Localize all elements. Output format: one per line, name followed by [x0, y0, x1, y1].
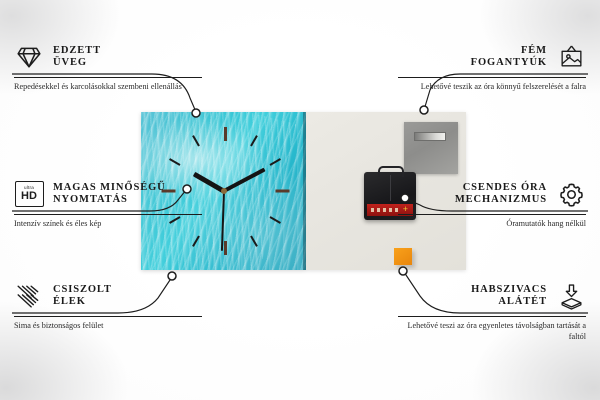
clock-minute-hand: [223, 168, 265, 193]
feature-description: Intenzív színek és éles kép: [14, 219, 202, 230]
feature-title-line2: ÉLEK: [53, 296, 86, 307]
diamond-icon: [14, 42, 44, 72]
feature-high-quality-print: ultra HD MAGAS MINŐSÉGŰNYOMTATÁS Intenzí…: [14, 177, 202, 230]
feature-divider: [14, 77, 202, 78]
feature-title-line1: CSISZOLT: [53, 284, 112, 295]
feature-tempered-glass: EDZETTÜVEG Repedésekkel és karcolásokkal…: [14, 40, 202, 93]
feature-silent-mechanism: CSENDES ÓRAMECHANIZMUS Óramutatók hang n…: [398, 177, 586, 230]
feature-description: Lehetővé teszi az óra egyenletes távolsá…: [398, 321, 586, 342]
feature-title: FÉMFOGANTYÚK: [471, 45, 547, 70]
clock-center-cap: [221, 188, 227, 194]
press-pad-icon: [556, 281, 586, 311]
polished-edges-icon: [14, 281, 44, 311]
feature-title-line2: MECHANIZMUS: [455, 194, 547, 205]
hanger-slot: [414, 132, 446, 141]
feature-title-line2: NYOMTATÁS: [53, 194, 128, 205]
feature-polished-edges: CSISZOLTÉLEK Sima és biztonságos felület: [14, 279, 202, 332]
gear-icon: [556, 179, 586, 209]
feature-description: Sima és biztonságos felület: [14, 321, 202, 332]
feature-divider: [398, 77, 586, 78]
feature-title: MAGAS MINŐSÉGŰNYOMTATÁS: [53, 182, 166, 207]
clock-tick-7: [192, 236, 200, 247]
clock-tick-12: [224, 127, 227, 141]
feature-title: CSENDES ÓRAMECHANIZMUS: [455, 182, 547, 207]
clock-tick-11: [192, 135, 200, 146]
feature-description: Repedésekkel és karcolásokkal szembeni e…: [14, 82, 202, 93]
clock-tick-4: [269, 216, 280, 224]
feature-description: Lehetővé teszik az óra könnyű felszerelé…: [398, 82, 586, 93]
clock-tick-5: [250, 236, 258, 247]
feature-divider: [14, 316, 202, 317]
clock-tick-3: [275, 190, 289, 193]
feature-title: HABSZIVACSALÁTÉT: [471, 284, 547, 309]
clock-tick-6: [224, 241, 227, 255]
feature-title-line1: CSENDES ÓRA: [463, 182, 547, 193]
feature-foam-spacer: HABSZIVACSALÁTÉT Lehetővé teszi az óra e…: [398, 279, 586, 342]
infographic-canvas: +: [0, 0, 600, 400]
feature-description: Óramutatók hang nélkül: [398, 219, 586, 230]
feature-title-line1: EDZETT: [53, 45, 101, 56]
clock-tick-10: [169, 158, 180, 166]
clock-tick-2: [269, 158, 280, 166]
feature-title-line1: FÉM: [521, 45, 547, 56]
feature-title-line1: HABSZIVACS: [471, 284, 547, 295]
mechanism-seam: [390, 175, 391, 201]
ultra-hd-badge-icon: ultra HD: [14, 179, 44, 209]
badge-hd-label: HD: [21, 191, 37, 202]
feature-title: CSISZOLTÉLEK: [53, 284, 112, 309]
feature-title-line2: ÜVEG: [53, 57, 87, 68]
clock-tick-1: [250, 135, 258, 146]
metal-hanger-plate: [404, 122, 458, 174]
feature-title: EDZETTÜVEG: [53, 45, 101, 70]
feature-title-line2: FOGANTYÚK: [471, 57, 547, 68]
battery-bars: [371, 208, 399, 212]
feature-divider: [14, 214, 202, 215]
feature-divider: [398, 316, 586, 317]
feature-divider: [398, 214, 586, 215]
feature-title-line1: MAGAS MINŐSÉGŰ: [53, 182, 166, 193]
foam-pad: [394, 248, 412, 265]
feature-metal-handles: FÉMFOGANTYÚK Lehetővé teszik az óra könn…: [398, 40, 586, 93]
feature-title-line2: ALÁTÉT: [498, 296, 547, 307]
hanging-frame-icon: [556, 42, 586, 72]
mechanism-strap: [378, 166, 404, 177]
